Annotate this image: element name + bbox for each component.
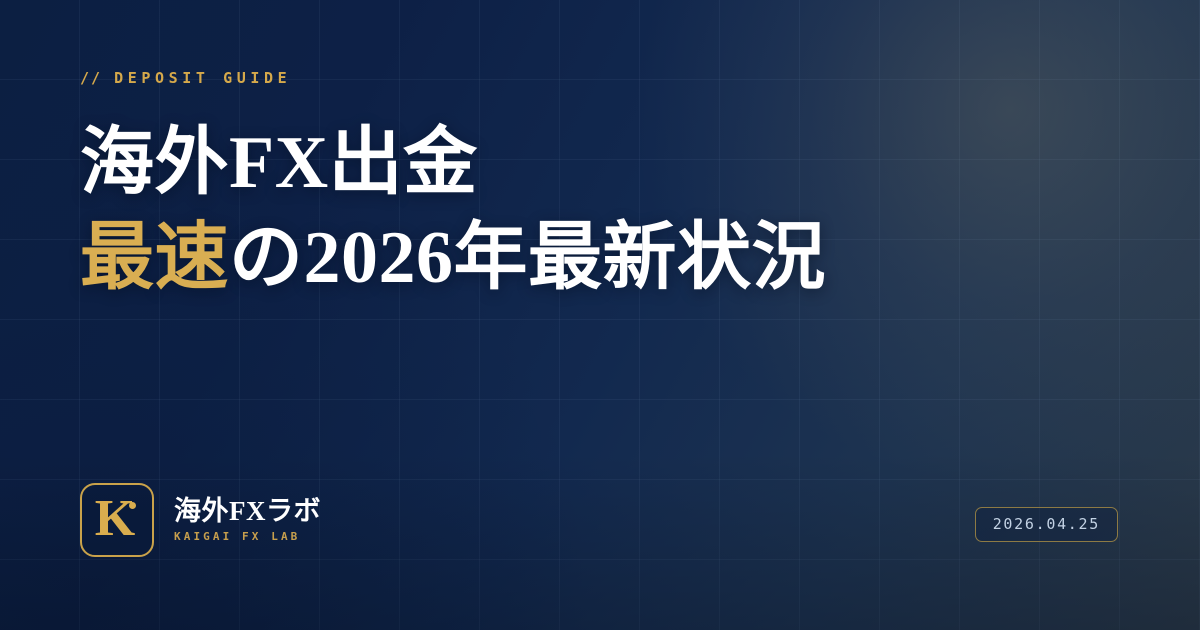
- brand-subtitle: KAIGAI FX LAB: [174, 530, 321, 543]
- logo-dot-icon: [129, 502, 136, 509]
- brand-lockup: K 海外FXラボ KAIGAI FX LAB: [80, 483, 321, 557]
- eyebrow-slashes-icon: //: [80, 69, 102, 87]
- headline-accent-text: 最速: [80, 217, 229, 299]
- headline-line-2-rest: の2026年最新状況: [229, 217, 826, 299]
- logo-letter-k: K: [95, 493, 135, 545]
- page-title: 海外FX出金 最速の2026年最新状況: [80, 116, 826, 305]
- headline-line-2: 最速の2026年最新状況: [80, 211, 826, 306]
- logo-mark-icon: K: [80, 483, 154, 557]
- brand-text-block: 海外FXラボ KAIGAI FX LAB: [174, 497, 321, 543]
- og-card-canvas: // DEPOSIT GUIDE 海外FX出金 最速の2026年最新状況 K 海…: [0, 0, 1200, 630]
- card-content: // DEPOSIT GUIDE 海外FX出金 最速の2026年最新状況 K 海…: [0, 0, 1200, 630]
- eyebrow-label: DEPOSIT GUIDE: [114, 69, 291, 87]
- date-badge: 2026.04.25: [975, 507, 1118, 542]
- brand-name: 海外FXラボ: [174, 497, 321, 527]
- eyebrow-kicker: // DEPOSIT GUIDE: [80, 69, 291, 87]
- headline-line-1: 海外FX出金: [80, 116, 826, 211]
